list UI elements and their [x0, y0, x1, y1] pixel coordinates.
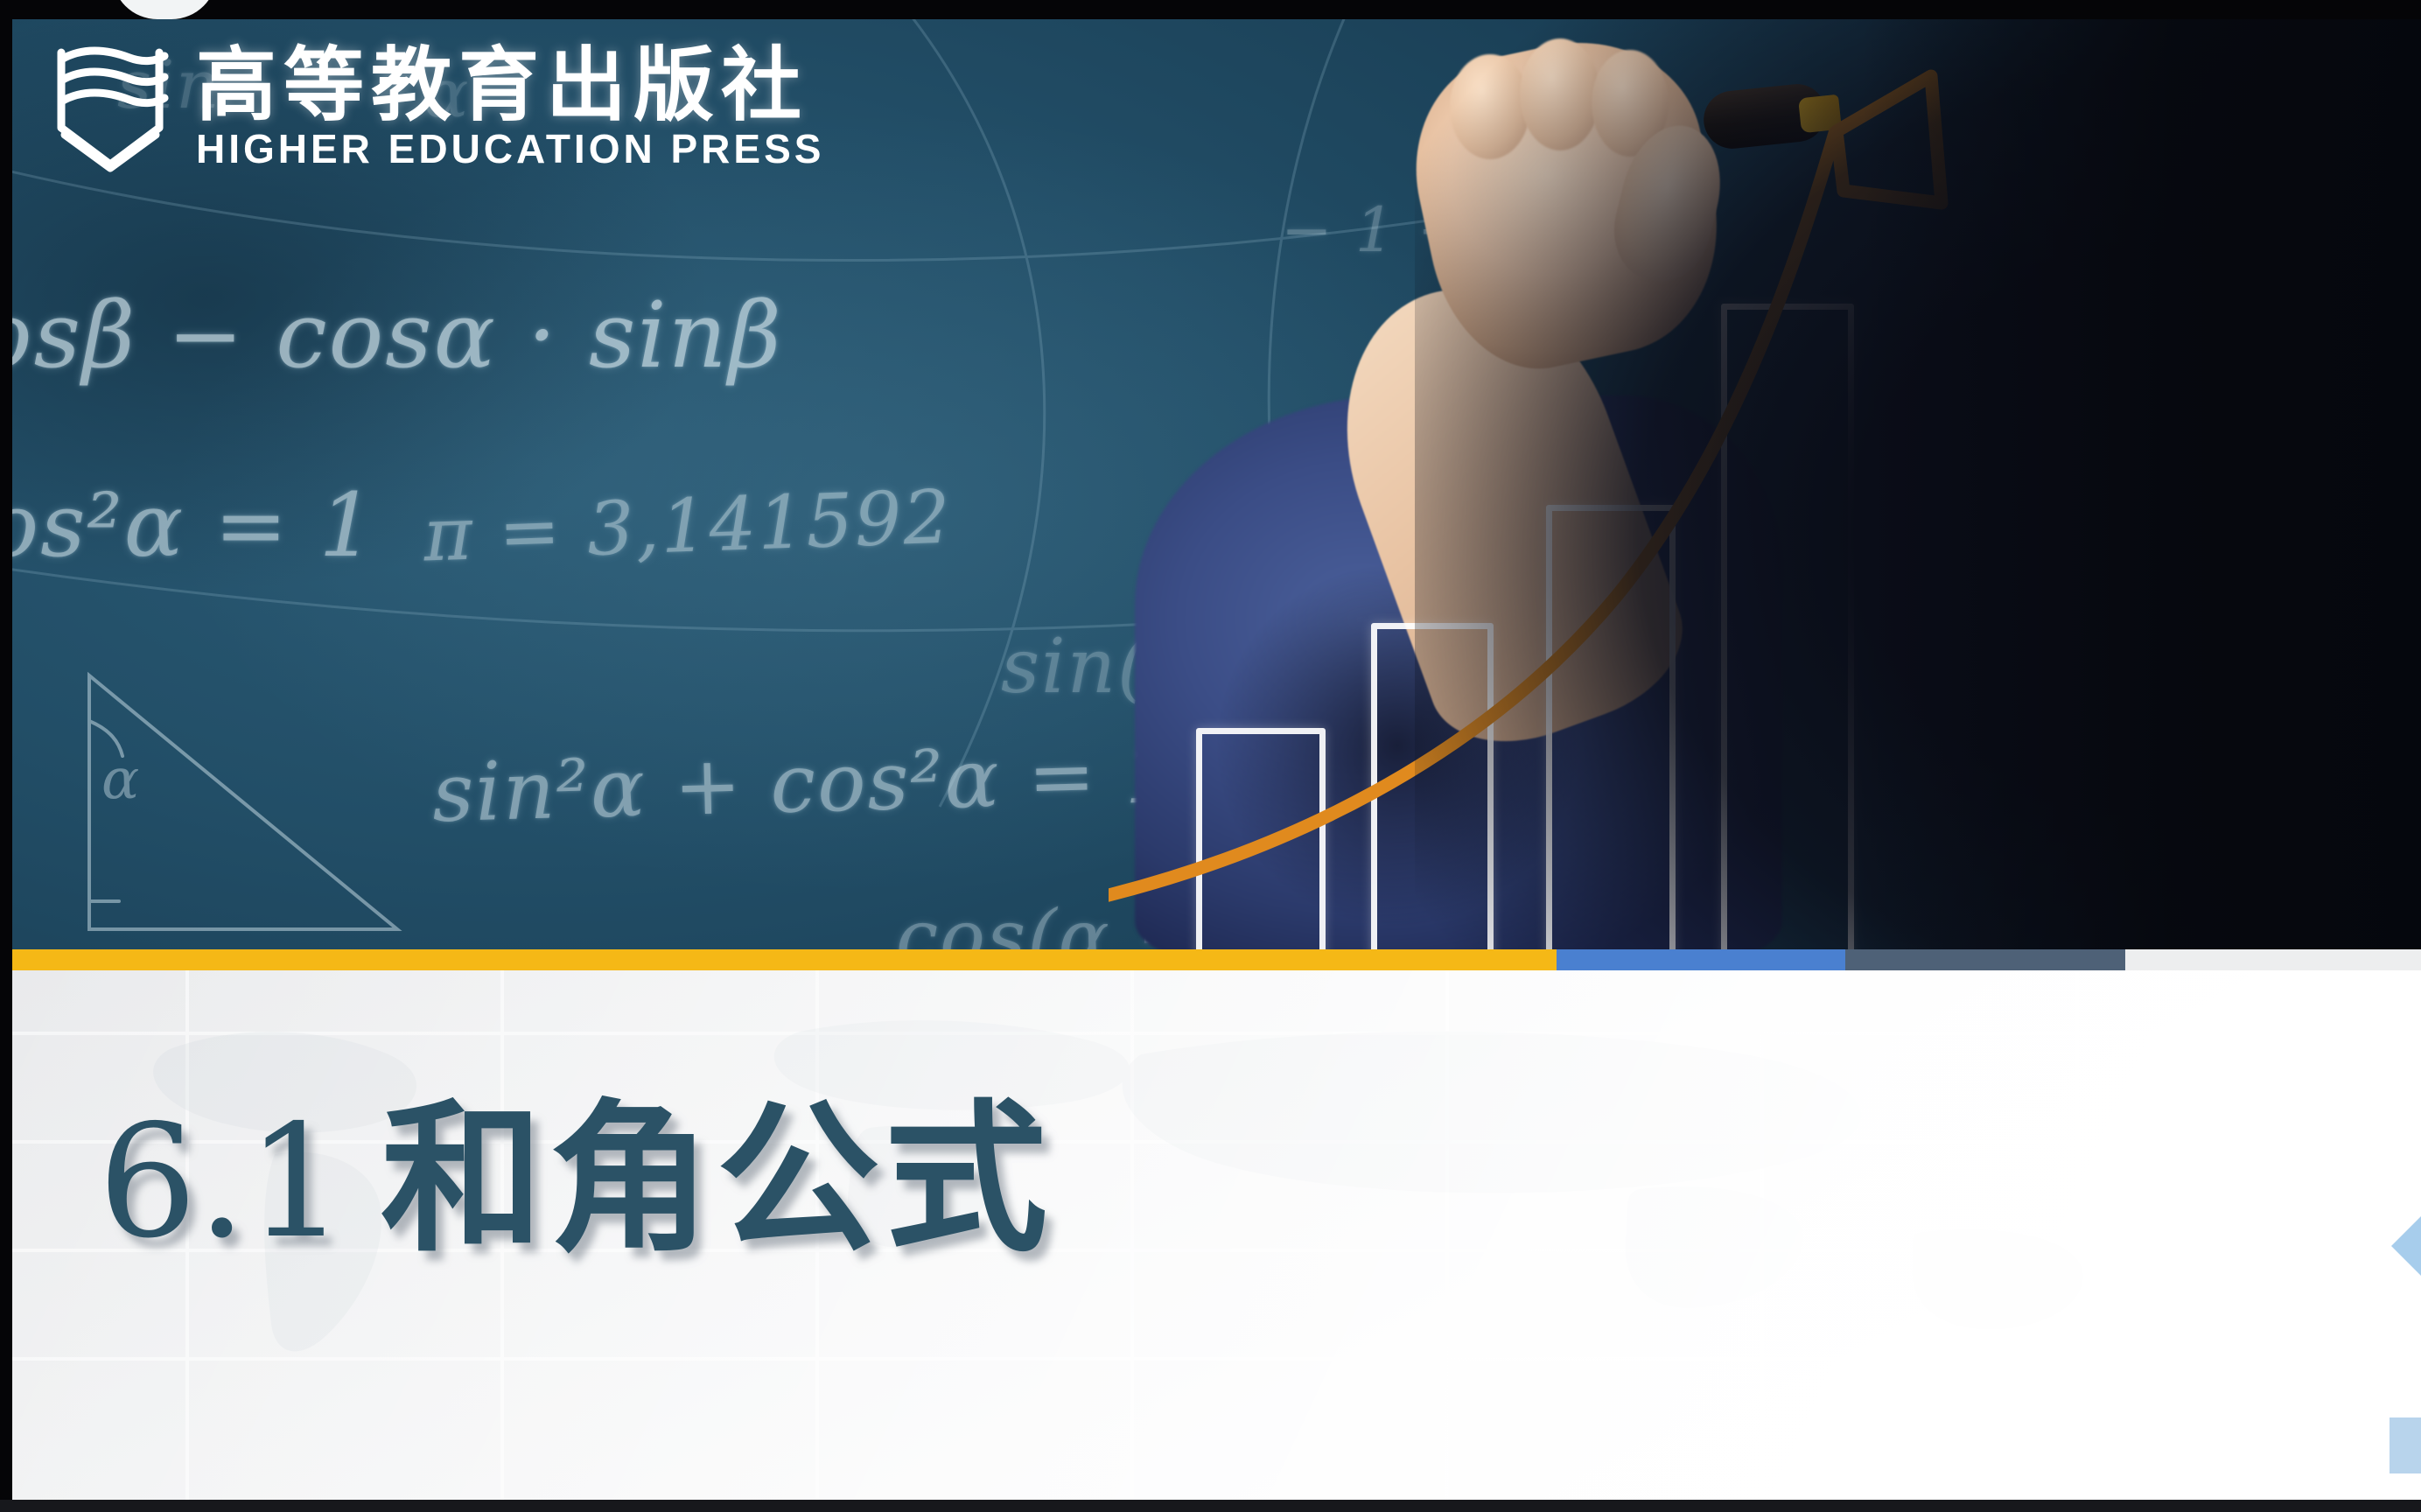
- divider-segment-gold: [12, 949, 1557, 970]
- scrollbar-thumb[interactable]: [2390, 1417, 2421, 1473]
- page-title: 6.1和角公式: [98, 1098, 1053, 1261]
- publisher-logo: 高等教育出版社 HIGHER EDUCATION PRESS: [45, 37, 824, 177]
- page-title-text: 和角公式: [381, 1084, 1053, 1274]
- letterbox-bottom: [0, 1500, 2421, 1512]
- divider-segment-slate: [1845, 949, 2125, 970]
- chalk-formula-cos2-eq-1: os²α = 1: [12, 474, 376, 577]
- chalk-formula-cos-sin: osβ − cosα · sinβ: [12, 282, 783, 388]
- right-edge-chevron-icon[interactable]: [2391, 1216, 2421, 1276]
- letterbox-top: [0, 0, 2421, 19]
- publisher-name-cn: 高等教育出版社: [196, 45, 824, 125]
- divider-segment-blue: [1557, 949, 1845, 970]
- publisher-name-en: HIGHER EDUCATION PRESS: [196, 129, 824, 169]
- divider-segment-light: [2125, 949, 2421, 970]
- chalk-right-triangle-diagram: α: [65, 667, 415, 949]
- slide-root: sin α − 1 + osβ − cosα · sinβ os²α = 1 π…: [0, 0, 2421, 1512]
- blackboard-hero: sin α − 1 + osβ − cosα · sinβ os²α = 1 π…: [12, 19, 2421, 949]
- hero-right-fade: [1861, 19, 2421, 949]
- svg-text:α: α: [101, 747, 139, 812]
- higher-education-press-emblem-icon: [45, 37, 177, 177]
- page-title-number: 6.1: [98, 1091, 346, 1272]
- divider-bar: [12, 949, 2421, 970]
- letterbox-left: [0, 0, 12, 1512]
- chalk-formula-pythagorean: sin²α + cos²α = 1: [431, 727, 1179, 840]
